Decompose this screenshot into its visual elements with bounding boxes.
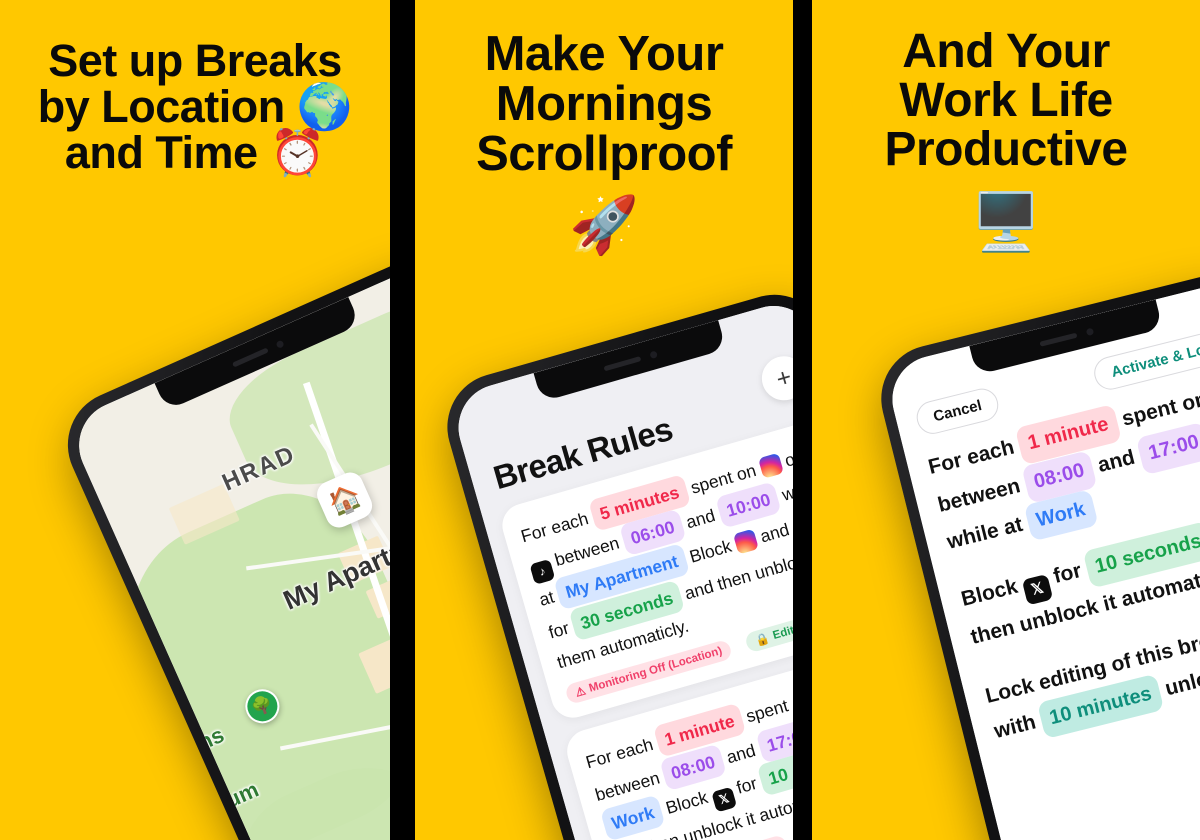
earpiece-speaker: [1039, 332, 1077, 346]
front-camera: [649, 350, 658, 359]
panel-2-headline: Make Your Mornings Scrollproof: [415, 0, 793, 180]
screenshot-stage: Set up Breaks by Location 🌍 and Time ⏰: [0, 0, 1200, 840]
phone-screen-map: HRAD KLÁROV My Apartment Golf Jazz Dock …: [65, 257, 390, 840]
rule-text-part: Block: [959, 574, 1026, 612]
front-camera: [275, 339, 284, 348]
cancel-button[interactable]: Cancel: [913, 385, 1002, 437]
marketing-panel-mornings: Make Your Mornings Scrollproof 🚀 + Break…: [415, 0, 793, 840]
panel-3-headline: And Your Work Life Productive: [812, 0, 1200, 175]
marketing-panel-work-life: And Your Work Life Productive 🖥️ Cancel …: [812, 0, 1200, 840]
headline-line: Work Life: [826, 77, 1186, 126]
rule-text-part: and: [720, 739, 763, 769]
phone-mockup-break-rules: + Break Rules For each 5 minutes spent o…: [435, 282, 793, 840]
headline-line: And Your: [826, 28, 1186, 77]
rule-text-part: between: [935, 473, 1028, 517]
rule-text-part: and: [753, 518, 793, 548]
rule-text-part: Block: [683, 534, 739, 568]
headline-line: Productive: [826, 126, 1186, 175]
rocket-icon: 🚀: [415, 192, 793, 258]
map-view[interactable]: HRAD KLÁROV My Apartment Golf Jazz Dock …: [65, 257, 390, 840]
lock-icon: 🔒: [754, 631, 772, 648]
time-chip-end[interactable]: 17:00: [1136, 422, 1200, 475]
earpiece-speaker: [231, 347, 268, 367]
headline-line: and Time ⏰: [12, 130, 378, 176]
phone-screen-break-rules: + Break Rules For each 5 minutes spent o…: [448, 296, 793, 840]
desktop-computer-icon: 🖥️: [812, 189, 1200, 255]
warning-icon: ⚠: [574, 684, 588, 700]
rule-text-part: while at: [945, 511, 1031, 553]
rule-text-part: Block: [659, 786, 715, 820]
rule-text-part: and: [679, 504, 722, 534]
headline-line: Set up Breaks: [12, 38, 378, 84]
rule-text-part: For each: [519, 507, 596, 547]
rule-text-part: for: [1045, 558, 1089, 590]
headline-line: Scrollproof: [429, 130, 779, 180]
rule-text-part: For each: [926, 434, 1022, 479]
earpiece-speaker: [603, 356, 641, 371]
phone-screen-rule-editor: Cancel Activate & Lock For each 1 minute…: [883, 278, 1200, 840]
house-icon: 🏠: [323, 479, 365, 520]
headline-line: Mornings: [429, 80, 779, 130]
panel-1-headline: Set up Breaks by Location 🌍 and Time ⏰: [0, 0, 390, 176]
rule-editor-screen: Cancel Activate & Lock For each 1 minute…: [883, 278, 1200, 840]
rule-text-part: For each: [584, 733, 661, 773]
marketing-panel-location: Set up Breaks by Location 🌍 and Time ⏰: [0, 0, 390, 840]
front-camera: [1085, 327, 1093, 335]
headline-line: Make Your: [429, 30, 779, 80]
rule-text-part: spent on: [739, 688, 793, 728]
phone-mockup-rule-editor: Cancel Activate & Lock For each 1 minute…: [870, 265, 1200, 840]
rule-text-part: and: [1090, 444, 1143, 478]
tree-icon: 🌳: [249, 693, 276, 720]
phone-mockup-map: HRAD KLÁROV My Apartment Golf Jazz Dock …: [51, 243, 390, 840]
headline-line: by Location 🌍: [12, 84, 378, 130]
